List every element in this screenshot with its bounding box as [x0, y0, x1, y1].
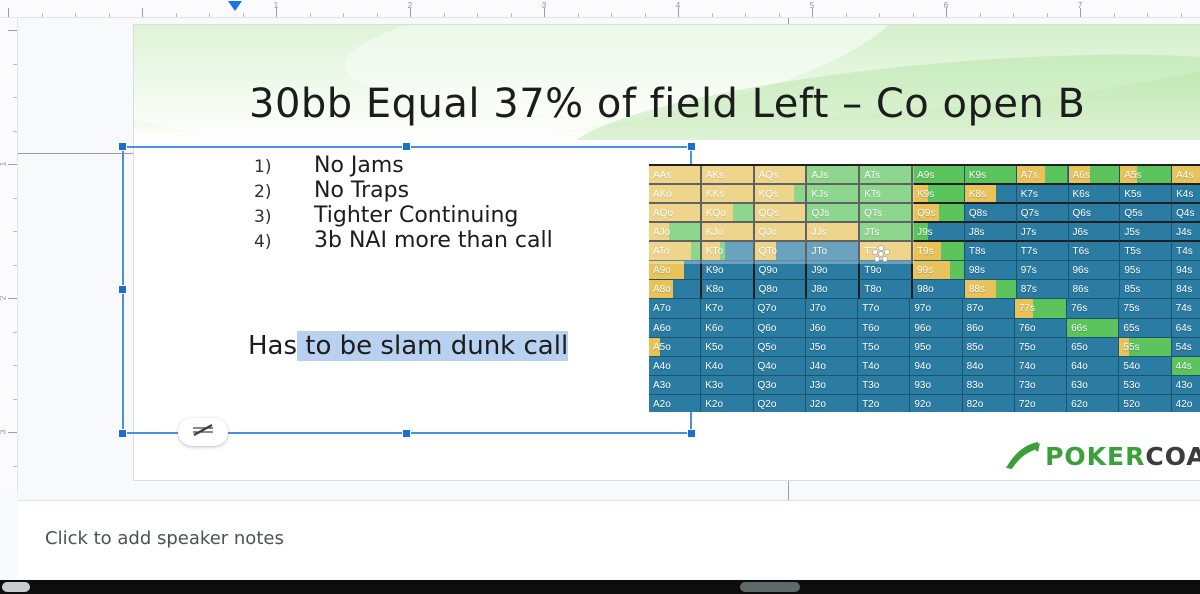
resize-handle-top-left[interactable] — [118, 142, 127, 151]
grid-cell[interactable]: AAs — [649, 166, 702, 185]
scrollbar-thumb-left[interactable] — [2, 582, 30, 592]
grid-cell-label: 64s — [1172, 319, 1200, 338]
grid-cell[interactable]: 54o — [1119, 357, 1171, 376]
grid-cell-label: 98s — [965, 261, 1016, 280]
grid-cell-label: Q6s — [1069, 204, 1120, 223]
grid-cell[interactable]: 53o — [1119, 376, 1171, 395]
speaker-notes-placeholder[interactable]: Click to add speaker notes — [45, 528, 284, 549]
grid-cell[interactable]: A3o — [649, 376, 701, 395]
grid-cell-label: K9s — [965, 166, 1016, 185]
resize-handle-bottom-right[interactable] — [687, 429, 696, 438]
grid-cell[interactable]: T5o — [858, 338, 910, 357]
grid-cell-label: QTo — [755, 242, 806, 261]
grid-cell-label: AKo — [649, 185, 700, 204]
grid-cell-label: 95o — [910, 338, 961, 357]
grid-cell[interactable]: 84s — [1172, 280, 1200, 299]
grid-cell[interactable]: 74o — [1015, 357, 1067, 376]
grid-cell-label: T7o — [858, 299, 909, 318]
grid-cell-label: K5o — [701, 338, 752, 357]
grid-cell-label: A9o — [649, 261, 700, 280]
grid-cell[interactable]: 98o — [913, 280, 965, 299]
grid-cell[interactable]: J2o — [806, 395, 858, 412]
grid-cell-label: Q7s — [1017, 204, 1068, 223]
grid-cell[interactable]: QQs — [755, 204, 808, 223]
grid-cell[interactable]: K7o — [701, 299, 753, 318]
grid-cell[interactable]: 99s — [913, 261, 965, 280]
grid-cell[interactable]: 96o — [910, 319, 962, 338]
grid-row: A5oK5oQ5oJ5oT5o95o85o75o65o55s54s — [649, 338, 1200, 357]
grid-cell[interactable]: A2o — [649, 395, 701, 412]
grid-cell[interactable]: QJo — [755, 223, 808, 242]
grid-cell-label: Q6o — [754, 319, 805, 338]
grid-cell-label: 86o — [963, 319, 1014, 338]
grid-cell[interactable]: A6s — [1069, 166, 1121, 185]
grid-cell-label: T4s — [1172, 242, 1200, 261]
grid-cell-label: 84o — [963, 357, 1014, 376]
grid-cell[interactable]: 98s — [965, 261, 1017, 280]
grid-cell[interactable]: ATs — [860, 166, 913, 185]
grid-cell-label: J6o — [806, 319, 857, 338]
scrollbar-thumb-right[interactable] — [740, 582, 800, 592]
logo-word-poker: POKER — [1045, 442, 1145, 471]
grid-cell-label: J4o — [806, 357, 857, 376]
grid-cell-label: AQs — [755, 166, 806, 185]
grid-cell[interactable]: Q2o — [754, 395, 806, 412]
grid-cell-label: 42o — [1172, 395, 1200, 412]
grid-cell-label: J7s — [1017, 223, 1068, 242]
slide-canvas[interactable]: 30bb Equal 37% of field Left – Co open B… — [18, 18, 1200, 494]
grid-cell-label: 76o — [1015, 319, 1066, 338]
grid-cell-label: K6o — [701, 319, 752, 338]
grid-cell[interactable]: K8s — [965, 185, 1017, 204]
grid-cell[interactable]: J6o — [806, 319, 858, 338]
grid-cell-label: 66s — [1067, 319, 1118, 338]
indent-marker[interactable] — [228, 1, 242, 11]
slide-title[interactable]: 30bb Equal 37% of field Left – Co open B — [249, 81, 1085, 127]
grid-cell-label: J3o — [806, 376, 857, 395]
grid-cell-label: K4s — [1172, 185, 1200, 204]
grid-cell-label: J5s — [1120, 223, 1171, 242]
grid-cell-label: 94o — [910, 357, 961, 376]
grid-cell-label: 76s — [1067, 299, 1118, 318]
grid-cell[interactable]: 42o — [1172, 395, 1200, 412]
grid-cell[interactable]: T8s — [965, 242, 1017, 261]
grid-cell[interactable]: 93o — [910, 376, 962, 395]
grid-cell-label: 88s — [965, 280, 1016, 299]
vertical-ruler[interactable]: 123 — [0, 18, 18, 494]
grid-cell[interactable]: 77s — [1015, 299, 1067, 318]
grid-cell-label: J5o — [806, 338, 857, 357]
grid-cell[interactable]: 85o — [963, 338, 1015, 357]
grid-row: A4oK4oQ4oJ4oT4o94o84o74o64o54o44s — [649, 357, 1200, 376]
no-fill-icon — [190, 422, 216, 443]
grid-row: AAsAKsAQsAJsATsA9sK9sA7sA6sA5sA4s — [649, 166, 1200, 185]
grid-cell-label: KTo — [702, 242, 753, 261]
grid-cell-label: K7s — [1017, 185, 1068, 204]
grid-cell-label: K5s — [1120, 185, 1171, 204]
grid-cell[interactable]: 73o — [1015, 376, 1067, 395]
grid-cell[interactable]: QJs — [807, 204, 860, 223]
grid-cell[interactable]: K9s — [965, 166, 1017, 185]
grid-cell[interactable]: A9s — [913, 166, 965, 185]
grid-cell-label: K9o — [702, 261, 753, 280]
grid-cell-label: 73o — [1015, 376, 1066, 395]
grid-cell-label: K9s — [913, 185, 964, 204]
grid-cell-label: 85s — [1120, 280, 1171, 299]
grid-cell[interactable]: 62o — [1067, 395, 1119, 412]
grid-cell[interactable]: A6o — [649, 319, 701, 338]
grid-cell-label: 84s — [1172, 280, 1200, 299]
grid-cell-label: Q2o — [754, 395, 805, 412]
grid-cell[interactable]: Q7o — [754, 299, 806, 318]
grid-cell-label: 82o — [963, 395, 1014, 412]
grid-cell[interactable]: J8o — [807, 280, 860, 299]
grid-cell-label: 62o — [1067, 395, 1118, 412]
grid-cell-label: K2o — [701, 395, 752, 412]
grid-cell[interactable]: J7o — [806, 299, 858, 318]
grid-row: AJoKJoQJoJJsJTsJ9sJ8sJ7sJ6sJ5sJ4s — [649, 223, 1200, 242]
grid-cell[interactable]: Q9o — [755, 261, 808, 280]
grid-cell-label: Q3o — [754, 376, 805, 395]
grid-cell[interactable]: AKo — [649, 185, 702, 204]
grid-cell[interactable]: K6s — [1069, 185, 1121, 204]
grid-cell-label: 53o — [1119, 376, 1170, 395]
grid-cell[interactable]: A8o — [649, 280, 702, 299]
grid-cell[interactable]: T7o — [858, 299, 910, 318]
grid-cell-label: AQo — [649, 204, 700, 223]
grid-cell[interactable]: AKs — [702, 166, 755, 185]
grid-cell-label: A4o — [649, 357, 700, 376]
grid-cell-label: 43o — [1172, 376, 1200, 395]
grid-cell-label: T6s — [1069, 242, 1120, 261]
grid-cell-label: QQs — [755, 204, 806, 223]
grid-cell[interactable]: KTs — [860, 185, 913, 204]
busy-spinner-cursor — [870, 244, 892, 264]
grid-cell[interactable]: 64o — [1067, 357, 1119, 376]
grid-cell[interactable]: Q8o — [755, 280, 808, 299]
grid-cell[interactable]: AQs — [755, 166, 808, 185]
grid-cell-label: T3o — [858, 376, 909, 395]
grid-cell[interactable]: JTo — [807, 242, 860, 261]
grid-cell[interactable]: Q8s — [965, 204, 1017, 223]
horizontal-ruler[interactable]: 1234567 — [0, 0, 1200, 18]
grid-cell-label: JTo — [807, 242, 858, 261]
grid-cell[interactable]: 74s — [1172, 299, 1200, 318]
grid-cell-label: J2o — [806, 395, 857, 412]
grid-cell[interactable]: T7s — [1017, 242, 1069, 261]
grid-cell[interactable]: 75o — [1015, 338, 1067, 357]
grid-cell-label: A2o — [649, 395, 700, 412]
grid-cell[interactable]: T9s — [913, 242, 965, 261]
grid-cell[interactable]: 87o — [963, 299, 1015, 318]
resize-handle-top-middle[interactable] — [402, 142, 411, 151]
grid-cell-label: 96o — [910, 319, 961, 338]
grid-cell[interactable]: J4o — [806, 357, 858, 376]
grid-cell[interactable]: KKs — [702, 185, 755, 204]
grid-cell-label: T9o — [860, 261, 911, 280]
grid-cell[interactable]: T2o — [858, 395, 910, 412]
grid-cell-label: K7o — [701, 299, 752, 318]
grid-cell[interactable]: J4s — [1172, 223, 1200, 242]
grid-cell-label: K3o — [701, 376, 752, 395]
grid-cell[interactable]: T6s — [1069, 242, 1121, 261]
grid-cell-label: AJs — [807, 166, 858, 185]
grid-cell-label: Q9o — [755, 261, 806, 280]
horizontal-scrollbar[interactable] — [0, 580, 1200, 594]
grid-cell[interactable]: 63o — [1067, 376, 1119, 395]
grid-cell-label: 98o — [913, 280, 964, 299]
grid-cell[interactable]: K9s — [913, 185, 965, 204]
grid-cell-label: T7s — [1017, 242, 1068, 261]
grid-cell[interactable]: K2o — [701, 395, 753, 412]
grid-cell[interactable]: Q9s — [913, 204, 965, 223]
grid-cell[interactable]: 65s — [1119, 319, 1171, 338]
grid-cell-label: 55s — [1119, 338, 1170, 357]
grid-cell[interactable]: ATo — [649, 242, 702, 261]
grid-cell-label: AAs — [649, 166, 700, 185]
grid-cell[interactable]: T5s — [1120, 242, 1172, 261]
grid-cell-label: 77s — [1015, 299, 1066, 318]
grid-cell-label: 74o — [1015, 357, 1066, 376]
resize-handle-bottom-middle[interactable] — [402, 429, 411, 438]
grid-cell[interactable]: Q6s — [1069, 204, 1121, 223]
grid-row: A6oK6oQ6oJ6oT6o96o86o76o66s65s64s — [649, 319, 1200, 338]
grid-cell-label: KQs — [755, 185, 806, 204]
grid-cell[interactable]: 44s — [1172, 357, 1200, 376]
grid-cell-label: 87o — [963, 299, 1014, 318]
arrow-mark-icon — [1004, 441, 1044, 471]
grid-cell[interactable]: T4s — [1172, 242, 1200, 261]
grid-cell-label: KJo — [702, 223, 753, 242]
grid-cell-label: A5o — [649, 338, 700, 357]
grid-cell[interactable]: J9o — [807, 261, 860, 280]
grid-cell-label: T5s — [1120, 242, 1171, 261]
grid-cell[interactable]: 83o — [963, 376, 1015, 395]
grid-cell[interactable]: 52o — [1119, 395, 1171, 412]
grid-cell[interactable]: Q4s — [1172, 204, 1200, 223]
grid-cell-label: J4s — [1172, 223, 1200, 242]
grid-cell-label: T8o — [860, 280, 911, 299]
grid-cell[interactable]: 55s — [1119, 338, 1171, 357]
grid-cell[interactable]: J5s — [1120, 223, 1172, 242]
grid-cell[interactable]: A4s — [1172, 166, 1200, 185]
grid-cell[interactable]: 94s — [1172, 261, 1200, 280]
grid-cell[interactable]: T4o — [858, 357, 910, 376]
grid-cell[interactable]: 88s — [965, 280, 1017, 299]
grid-cell[interactable]: KTo — [702, 242, 755, 261]
grid-cell[interactable]: 92o — [910, 395, 962, 412]
grid-row: A7oK7oQ7oJ7oT7o97o87o77s76s75s74s — [649, 299, 1200, 318]
grid-cell-label: 52o — [1119, 395, 1170, 412]
grid-cell-label: J6s — [1069, 223, 1120, 242]
grid-cell[interactable]: A7s — [1017, 166, 1069, 185]
grid-cell[interactable]: Q5o — [754, 338, 806, 357]
grid-cell[interactable]: K5o — [701, 338, 753, 357]
grid-cell[interactable]: 82o — [963, 395, 1015, 412]
grid-cell[interactable]: J3o — [806, 376, 858, 395]
grid-cell-label: J8o — [807, 280, 858, 299]
grid-cell[interactable]: 97s — [1017, 261, 1069, 280]
grid-cell-label: QJs — [807, 204, 858, 223]
grid-cell-label: A8o — [649, 280, 700, 299]
grid-cell-label: Q9s — [913, 204, 964, 223]
grid-cell[interactable]: AJs — [807, 166, 860, 185]
grid-cell[interactable]: 76s — [1067, 299, 1119, 318]
grid-cell[interactable]: K7s — [1017, 185, 1069, 204]
grid-cell-label: ATo — [649, 242, 700, 261]
grid-cell[interactable]: 86s — [1069, 280, 1121, 299]
grid-row: A9oK9oQ9oJ9oT9o99s98s97s96s95s94s — [649, 261, 1200, 280]
grid-cell[interactable]: A5o — [649, 338, 701, 357]
grid-cell[interactable]: Q3o — [754, 376, 806, 395]
grid-cell[interactable]: 76o — [1015, 319, 1067, 338]
grid-cell[interactable]: A4o — [649, 357, 701, 376]
grid-cell-label: 74s — [1172, 299, 1200, 318]
grid-cell-label: 65o — [1067, 338, 1118, 357]
grid-cell[interactable]: J6s — [1069, 223, 1121, 242]
slides-editor-window: 1234567 123 30bb Equal 37% of field Left… — [0, 0, 1200, 594]
grid-cell-label: J9o — [807, 261, 858, 280]
grid-cell[interactable]: Q5s — [1120, 204, 1172, 223]
grid-cell-label: 85o — [963, 338, 1014, 357]
grid-cell-label: Q5s — [1120, 204, 1171, 223]
resize-handle-middle-left[interactable] — [118, 285, 127, 294]
grid-cell-label: 92o — [910, 395, 961, 412]
grid-cell-label: K6s — [1069, 185, 1120, 204]
grid-cell-label: 99s — [913, 261, 964, 280]
grid-cell[interactable]: 64s — [1172, 319, 1200, 338]
grid-cell[interactable]: T9o — [860, 261, 913, 280]
grid-cell-label: Q8s — [965, 204, 1016, 223]
grid-cell-label: T4o — [858, 357, 909, 376]
grid-cell[interactable]: 86o — [963, 319, 1015, 338]
grid-cell-label: 44s — [1172, 357, 1200, 376]
resize-handle-top-right[interactable] — [687, 142, 696, 151]
grid-cell-label: QJo — [755, 223, 806, 242]
grid-cell-label: 94s — [1172, 261, 1200, 280]
grid-cell[interactable]: K3o — [701, 376, 753, 395]
grid-cell-label: Q8o — [755, 280, 806, 299]
grid-cell-label: Q4s — [1172, 204, 1200, 223]
grid-cell[interactable]: K8o — [702, 280, 755, 299]
grid-cell[interactable]: QTs — [860, 204, 913, 223]
grid-cell[interactable]: A5s — [1120, 166, 1172, 185]
grid-cell[interactable]: 75s — [1119, 299, 1171, 318]
grid-cell-label: 97s — [1017, 261, 1068, 280]
grid-cell-label: J9s — [913, 223, 964, 242]
grid-cell-label: ATs — [860, 166, 911, 185]
grid-cell-label: A7o — [649, 299, 700, 318]
grid-cell[interactable]: J8s — [965, 223, 1017, 242]
grid-cell[interactable]: KJo — [702, 223, 755, 242]
grid-cell[interactable]: 94o — [910, 357, 962, 376]
grid-row: AKoKKsKQsKJsKTsK9sK8sK7sK6sK5sK4s — [649, 185, 1200, 204]
grid-cell[interactable]: QTo — [755, 242, 808, 261]
grid-cell[interactable]: A7o — [649, 299, 701, 318]
grid-row: A8oK8oQ8oJ8oT8o98o88s87s86s85s84s — [649, 280, 1200, 299]
grid-cell-label: K8o — [702, 280, 753, 299]
grid-cell-label: Q5o — [754, 338, 805, 357]
grid-cell[interactable]: 95s — [1120, 261, 1172, 280]
grid-cell[interactable]: KQo — [702, 204, 755, 223]
grid-cell-label: A4s — [1172, 166, 1200, 185]
grid-cell[interactable]: AQo — [649, 204, 702, 223]
poker-range-grid[interactable]: AAsAKsAQsAJsATsA9sK9sA7sA6sA5sA4sAKoKKsK… — [649, 164, 1200, 412]
grid-cell-label: KJs — [807, 185, 858, 204]
grid-cell[interactable]: K5s — [1120, 185, 1172, 204]
grid-row: AToKToQToJToTTsT9sT8sT7sT6sT5sT4s — [649, 242, 1200, 261]
grid-cell[interactable]: Q4o — [754, 357, 806, 376]
grid-cell[interactable]: 54s — [1172, 338, 1200, 357]
grid-cell-label: KKs — [702, 185, 753, 204]
grid-cell[interactable]: Q7s — [1017, 204, 1069, 223]
grid-cell[interactable]: KQs — [755, 185, 808, 204]
grid-cell-label: 97o — [910, 299, 961, 318]
grid-cell[interactable]: 84o — [963, 357, 1015, 376]
pokercoaching-logo: POKERCOAC — [1004, 439, 1200, 473]
grid-cell-label: QTs — [860, 204, 911, 223]
grid-cell[interactable]: KJs — [807, 185, 860, 204]
logo-word-coaching: COAC — [1145, 442, 1200, 471]
grid-cell-label: K8s — [965, 185, 1016, 204]
grid-cell[interactable]: 95o — [910, 338, 962, 357]
grid-cell[interactable]: 43o — [1172, 376, 1200, 395]
grid-cell-label: 54o — [1119, 357, 1170, 376]
grid-cell-label: 83o — [963, 376, 1014, 395]
grid-cell-label: K4o — [701, 357, 752, 376]
grid-cell[interactable]: Q6o — [754, 319, 806, 338]
grid-cell[interactable]: AJo — [649, 223, 702, 242]
grid-cell[interactable]: K4s — [1172, 185, 1200, 204]
grid-cell[interactable]: 85s — [1120, 280, 1172, 299]
grid-cell[interactable]: 66s — [1067, 319, 1119, 338]
grid-cell[interactable]: J9s — [913, 223, 965, 242]
speaker-notes-pane[interactable]: Click to add speaker notes — [18, 500, 1200, 578]
grid-cell[interactable]: T8o — [860, 280, 913, 299]
grid-cell[interactable]: J5o — [806, 338, 858, 357]
grid-cell[interactable]: JJs — [807, 223, 860, 242]
grid-cell[interactable]: 65o — [1067, 338, 1119, 357]
grid-cell-label: 72o — [1015, 395, 1066, 412]
grid-cell-label: A9s — [913, 166, 964, 185]
grid-cell[interactable]: K6o — [701, 319, 753, 338]
grid-cell-label: T2o — [858, 395, 909, 412]
grid-cell[interactable]: JTs — [860, 223, 913, 242]
resize-handle-bottom-left[interactable] — [118, 429, 127, 438]
grid-cell[interactable]: K9o — [702, 261, 755, 280]
grid-cell[interactable]: A9o — [649, 261, 702, 280]
grid-row: A3oK3oQ3oJ3oT3o93o83o73o63o53o43o — [649, 376, 1200, 395]
grid-cell[interactable]: J7s — [1017, 223, 1069, 242]
grid-cell-label: 87s — [1017, 280, 1068, 299]
grid-cell-label: A6s — [1069, 166, 1120, 185]
grid-cell-label: 96s — [1069, 261, 1120, 280]
text-box-selection[interactable] — [122, 146, 692, 434]
grid-cell-label: T8s — [965, 242, 1016, 261]
grid-cell[interactable]: 96s — [1069, 261, 1121, 280]
no-fill-button[interactable] — [178, 418, 228, 446]
grid-cell-label: 95s — [1120, 261, 1171, 280]
grid-cell[interactable]: T6o — [858, 319, 910, 338]
grid-cell-label: T6o — [858, 319, 909, 338]
grid-cell[interactable]: 72o — [1015, 395, 1067, 412]
grid-cell[interactable]: 87s — [1017, 280, 1069, 299]
grid-cell-label: A5s — [1120, 166, 1171, 185]
grid-cell[interactable]: K4o — [701, 357, 753, 376]
grid-cell-label: 54s — [1172, 338, 1200, 357]
grid-cell[interactable]: 97o — [910, 299, 962, 318]
grid-cell[interactable]: T3o — [858, 376, 910, 395]
